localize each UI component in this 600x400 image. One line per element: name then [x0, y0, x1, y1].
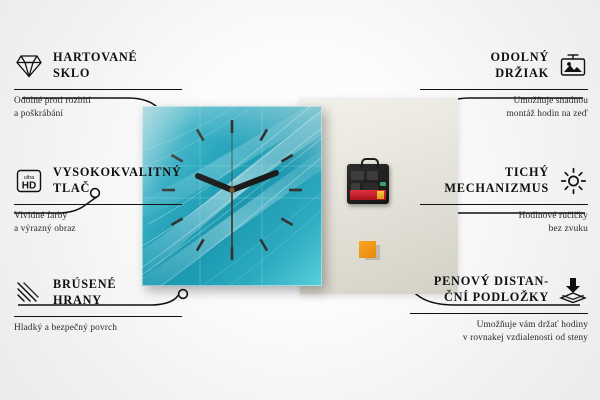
- aa-battery: [350, 190, 386, 200]
- product-photo: [142, 98, 458, 294]
- clock-movement: [347, 164, 389, 204]
- feature-header: TICHÝ MECHANIZMUS: [420, 163, 588, 199]
- movement-detail: [380, 182, 386, 186]
- svg-text:HD: HD: [22, 180, 36, 191]
- arrow-down-stack-icon: [558, 275, 588, 305]
- movement-detail: [351, 171, 364, 180]
- divider: [420, 204, 588, 205]
- feature-description: Umožňuje snadnou montáž hodin na zeď: [420, 95, 588, 122]
- picture-hanger-icon: [558, 51, 588, 81]
- feature-header: ODOLNÝ DRŽIAK: [420, 48, 588, 84]
- feature-title: HARTOVANÉ SKLO: [53, 50, 137, 81]
- feature-title: BRÚSENÉ HRANY: [53, 277, 116, 308]
- feature-description: Umožňuje vám držať hodiny v rovnakej vzd…: [410, 319, 588, 346]
- feature-hardened-glass: HARTOVANÉ SKLO Odolné proti rozbití a po…: [14, 48, 182, 122]
- feature-title: ODOLNÝ DRŽIAK: [491, 50, 549, 81]
- feature-description: Hodinové ručičky bez zvuku: [420, 210, 588, 237]
- ground-edges-icon: [14, 278, 44, 308]
- diamond-icon: [14, 51, 44, 81]
- feature-header: PENOVÝ DISTAN- ČNÍ PODLOŽKY: [410, 272, 588, 308]
- divider: [14, 89, 182, 90]
- feature-description: Odolné proti rozbití a poškrábání: [14, 95, 182, 122]
- infographic-stage: HARTOVANÉ SKLO Odolné proti rozbití a po…: [0, 0, 600, 400]
- feature-header: ultra HD VYSOKOKVALITNÝ TLAČ: [14, 163, 182, 199]
- feature-header: HARTOVANÉ SKLO: [14, 48, 182, 84]
- gear-icon: [558, 166, 588, 196]
- feature-durable-hanger: ODOLNÝ DRŽIAK Umožňuje snadnou montáž ho…: [420, 48, 588, 122]
- movement-hanger-icon: [361, 158, 379, 168]
- feature-ground-edges: BRÚSENÉ HRANY Hladký a bezpečný povrch: [14, 275, 182, 335]
- divider: [14, 204, 182, 205]
- ultra-hd-badge-icon: ultra HD: [14, 166, 44, 196]
- movement-detail: [363, 183, 378, 190]
- feature-description: Vividné farby a výrazný obraz: [14, 210, 182, 237]
- feature-foam-spacers: PENOVÝ DISTAN- ČNÍ PODLOŽKY Umožňuje vám…: [410, 272, 588, 346]
- feature-header: BRÚSENÉ HRANY: [14, 275, 182, 311]
- feature-silent-mechanism: TICHÝ MECHANIZMUS Hodinové ručičky bez z…: [420, 163, 588, 237]
- movement-detail: [351, 183, 360, 190]
- divider: [420, 89, 588, 90]
- foam-spacer-pad: [359, 241, 376, 258]
- feature-description: Hladký a bezpečný povrch: [14, 322, 182, 335]
- feature-high-quality-print: ultra HD VYSOKOKVALITNÝ TLAČ Vividné far…: [14, 163, 182, 237]
- movement-detail: [367, 171, 378, 180]
- feature-title: PENOVÝ DISTAN- ČNÍ PODLOŽKY: [434, 274, 549, 305]
- feature-title: TICHÝ MECHANIZMUS: [444, 165, 549, 196]
- divider: [410, 313, 588, 314]
- feature-title: VYSOKOKVALITNÝ TLAČ: [53, 165, 182, 196]
- divider: [14, 316, 182, 317]
